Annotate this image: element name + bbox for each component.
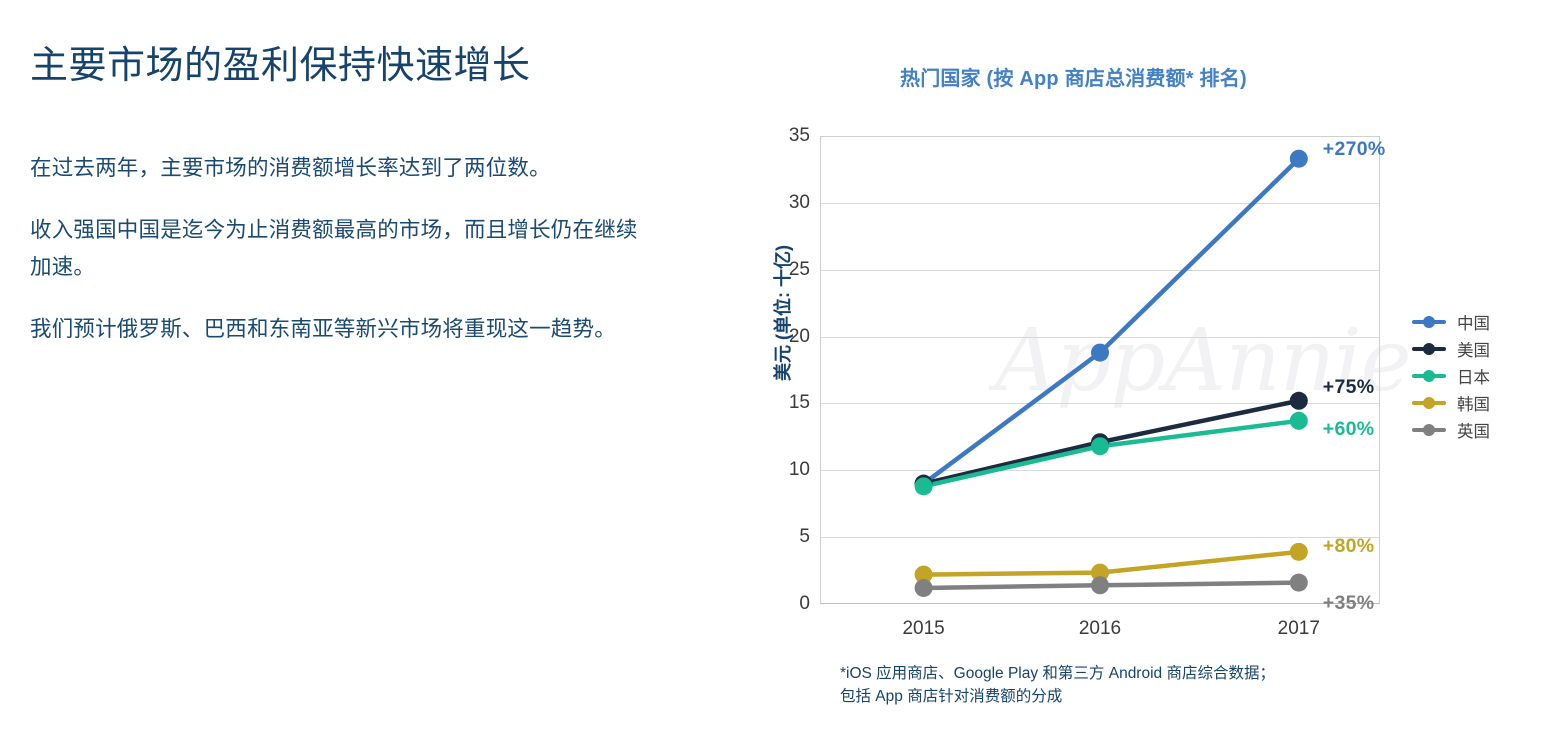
growth-annotation: +35% [1323,592,1375,615]
paragraph-2: 收入强国中国是迄今为止消费额最高的市场，而且增长仍在继续加速。 [30,212,650,287]
y-tick-label: 15 [766,392,810,414]
chart-title: 热门国家 (按 App 商店总消费额* 排名) [900,62,1247,91]
data-point-marker [915,579,933,597]
data-point-marker [915,477,933,495]
body-copy: 在过去两年，主要市场的消费额增长率达到了两位数。 收入强国中国是迄今为止消费额最… [30,150,650,373]
growth-annotation: +80% [1323,535,1375,558]
legend-item-3[interactable]: 韩国 [1412,389,1550,416]
y-axis-ticks: 05101520253035 [758,136,810,604]
series-lines [820,136,1380,604]
y-tick-label: 20 [766,326,810,348]
series-line [924,159,1299,484]
x-tick-label: 2015 [864,618,984,640]
data-point-marker [1290,412,1308,430]
footnote: *iOS 应用商店、Google Play 和第三方 Android 商店综合数… [840,662,1460,709]
legend-item-2[interactable]: 日本 [1412,362,1550,389]
series-line [924,421,1299,487]
legend-label: 美国 [1457,337,1490,361]
legend-item-0[interactable]: 中国 [1412,308,1550,335]
y-tick-label: 30 [766,192,810,214]
data-point-marker [1091,576,1109,594]
growth-annotation: +270% [1323,138,1386,161]
data-point-marker [1290,543,1308,561]
legend-swatch-icon [1412,396,1446,410]
plot-area: AppAnnie [820,136,1380,604]
data-point-marker [1091,344,1109,362]
page-title: 主要市场的盈利保持快速增长 [30,43,670,91]
y-tick-label: 25 [766,259,810,281]
chart-legend: 中国美国日本韩国英国 [1412,308,1550,443]
x-tick-label: 2017 [1239,618,1359,640]
growth-annotation: +60% [1323,418,1375,441]
legend-label: 中国 [1457,310,1490,334]
paragraph-1: 在过去两年，主要市场的消费额增长率达到了两位数。 [30,150,650,188]
legend-item-4[interactable]: 英国 [1412,416,1550,443]
data-point-marker [1091,437,1109,455]
legend-swatch-icon [1412,369,1446,383]
growth-annotation: +75% [1323,376,1375,399]
chart-panel: 热门国家 (按 App 商店总消费额* 排名) 美元 (单位: 十亿) 0510… [700,0,1550,735]
legend-swatch-icon [1412,315,1446,329]
footnote-line-2: 包括 App 商店针对消费额的分成 [840,685,1460,708]
legend-swatch-icon [1412,342,1446,356]
footnote-line-1: *iOS 应用商店、Google Play 和第三方 Android 商店综合数… [840,662,1460,685]
series-line [924,552,1299,575]
data-point-marker [1290,392,1308,410]
legend-label: 英国 [1457,418,1490,442]
y-tick-label: 35 [766,125,810,147]
data-point-marker [1290,150,1308,168]
series-line [924,583,1299,588]
y-tick-label: 10 [766,459,810,481]
legend-label: 日本 [1457,364,1490,388]
y-tick-label: 5 [766,526,810,548]
paragraph-3: 我们预计俄罗斯、巴西和东南亚等新兴市场将重现这一趋势。 [30,311,650,349]
x-tick-label: 2016 [1040,618,1160,640]
legend-item-1[interactable]: 美国 [1412,335,1550,362]
legend-swatch-icon [1412,423,1446,437]
legend-label: 韩国 [1457,391,1490,415]
y-tick-label: 0 [766,593,810,615]
text-panel: 主要市场的盈利保持快速增长 在过去两年，主要市场的消费额增长率达到了两位数。 收… [30,0,670,735]
data-point-marker [1290,574,1308,592]
